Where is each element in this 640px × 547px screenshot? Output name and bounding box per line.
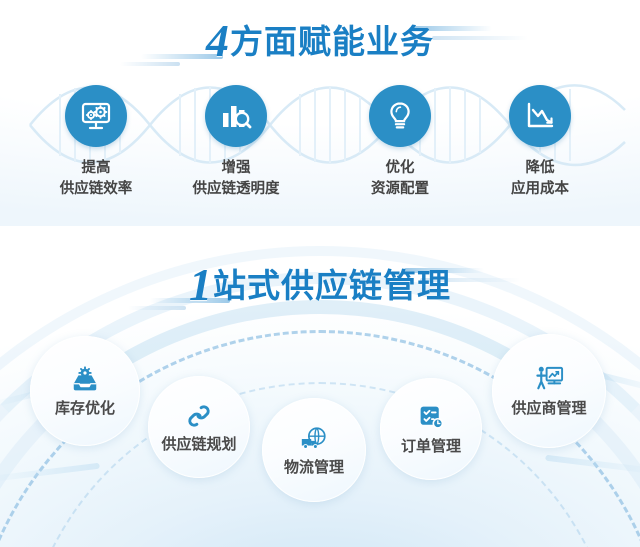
capability-bubble-2[interactable]: 供应链规划	[148, 376, 250, 478]
feature-label-2-line1: 增强	[222, 160, 251, 176]
chain-link-icon	[185, 402, 213, 430]
section-two-heading: 1 站式供应链管理	[0, 262, 640, 308]
feature-label-1-line1: 提高	[82, 160, 111, 176]
infographic-canvas: 4 方面赋能业务 提高 供应链效率	[0, 0, 640, 547]
capability-bubble-1[interactable]: 库存优化	[30, 336, 140, 446]
declining-chart-icon	[523, 99, 557, 133]
feature-icon-circle-2	[205, 85, 267, 147]
capability-label-5: 供应商管理	[511, 397, 586, 418]
feature-item-1[interactable]: 提高 供应链效率	[36, 85, 156, 200]
feature-label-2: 增强 供应链透明度	[176, 158, 296, 200]
inbox-gear-icon	[70, 365, 100, 395]
feature-item-2[interactable]: 增强 供应链透明度	[176, 85, 296, 200]
capability-label-1: 库存优化	[55, 397, 115, 418]
feature-label-1-line2: 供应链效率	[36, 179, 156, 200]
capability-icon-wrap-2	[185, 401, 213, 431]
capability-icon-wrap-5	[534, 365, 565, 395]
feature-icon-circle-4	[509, 85, 571, 147]
feature-icon-circle-3	[369, 85, 431, 147]
capability-label-4: 订单管理	[401, 435, 461, 456]
feature-label-4: 降低 应用成本	[480, 158, 600, 200]
checklist-clock-icon	[417, 403, 446, 432]
capability-label-3: 物流管理	[284, 456, 344, 477]
feature-label-4-line1: 降低	[526, 160, 555, 176]
monitor-gears-icon	[79, 99, 113, 133]
capability-icon-wrap-4	[417, 403, 446, 433]
capability-bubble-5[interactable]: 供应商管理	[492, 334, 606, 448]
lightbulb-icon	[383, 99, 417, 133]
feature-label-1: 提高 供应链效率	[36, 158, 156, 200]
section-two-title: 站式供应链管理	[213, 269, 451, 302]
section-one-number: 4	[206, 18, 227, 64]
bar-chart-search-icon	[219, 99, 253, 133]
section-one-title: 方面赋能业务	[230, 25, 434, 58]
feature-label-2-line2: 供应链透明度	[176, 179, 296, 200]
feature-label-3-line1: 优化	[386, 160, 415, 176]
presenter-board-icon	[534, 364, 565, 395]
capability-label-2: 供应链规划	[161, 433, 236, 454]
capability-icon-wrap-3	[299, 424, 329, 454]
feature-item-3[interactable]: 优化 资源配置	[340, 85, 460, 200]
capability-icon-wrap-1	[70, 365, 100, 395]
section-two-number: 1	[189, 262, 210, 308]
feature-item-4[interactable]: 降低 应用成本	[480, 85, 600, 200]
section-one-heading: 4 方面赋能业务	[0, 18, 640, 64]
feature-label-3-line2: 资源配置	[340, 179, 460, 200]
feature-label-4-line2: 应用成本	[480, 179, 600, 200]
globe-truck-icon	[299, 424, 329, 454]
feature-icon-circle-1	[65, 85, 127, 147]
capability-bubble-4[interactable]: 订单管理	[380, 378, 482, 480]
feature-label-3: 优化 资源配置	[340, 158, 460, 200]
capability-bubble-3[interactable]: 物流管理	[262, 398, 366, 502]
